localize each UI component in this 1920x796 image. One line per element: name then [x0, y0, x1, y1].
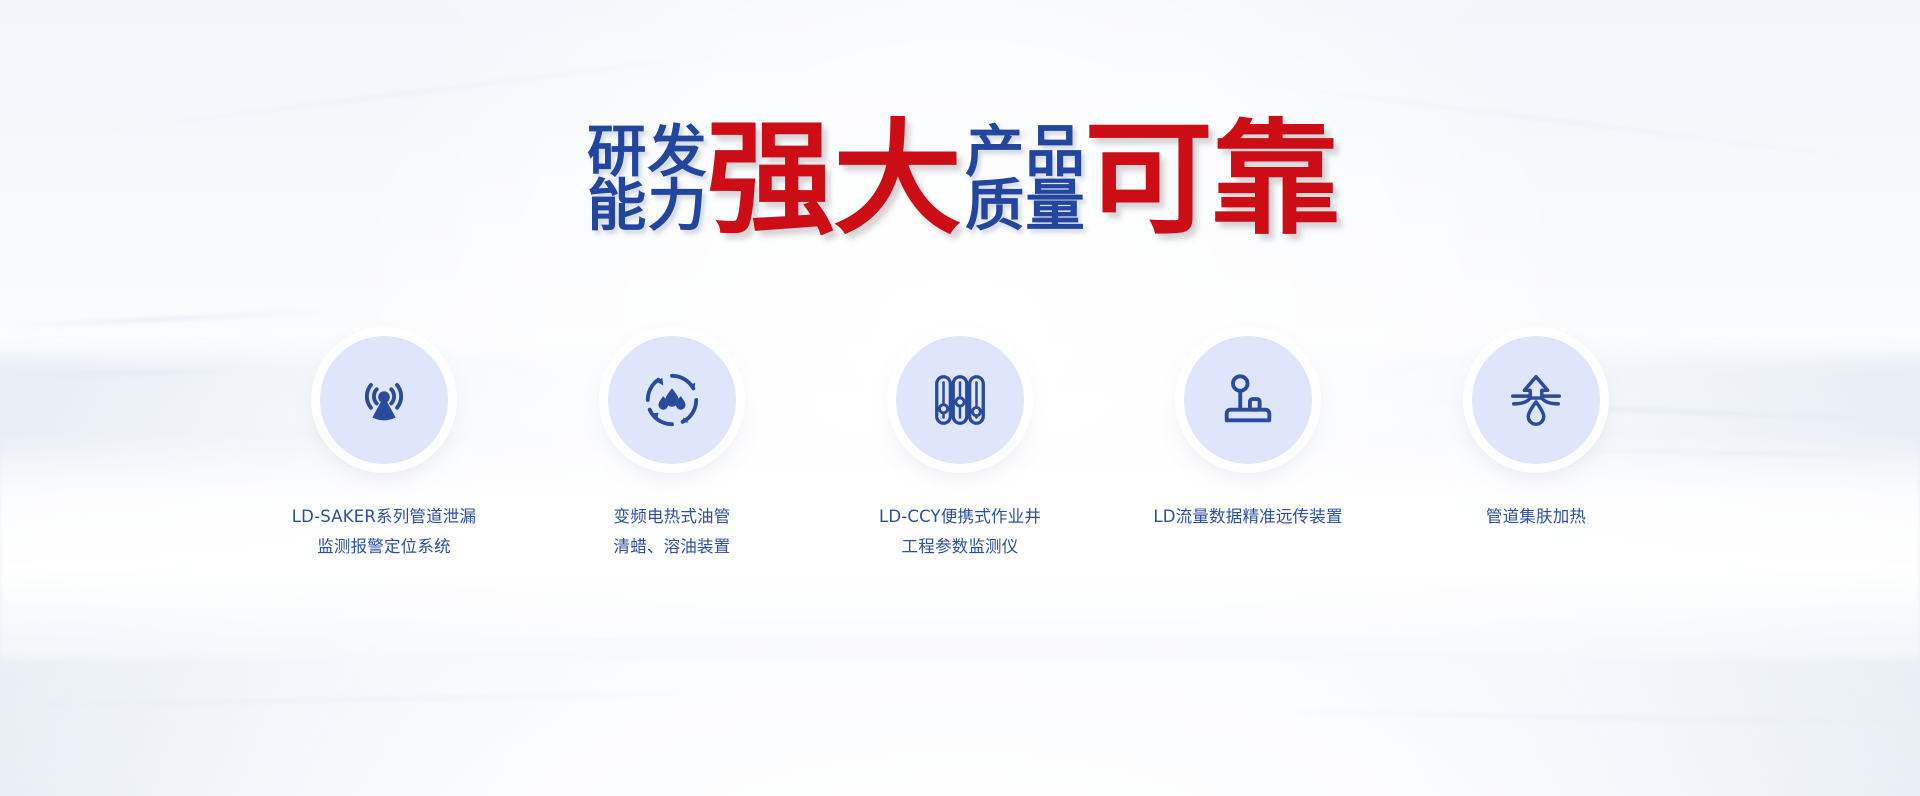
feature-icon-circle — [608, 336, 736, 464]
feature-item[interactable]: LD流量数据精准远传装置 — [1123, 336, 1373, 562]
feature-item[interactable]: 管道集肤加热 — [1411, 336, 1661, 562]
background-streak — [1220, 710, 1920, 724]
feature-item[interactable]: LD-SAKER系列管道泄漏 监测报警定位系统 — [259, 336, 509, 562]
feature-label: LD-SAKER系列管道泄漏 监测报警定位系统 — [292, 502, 476, 562]
feature-list: LD-SAKER系列管道泄漏 监测报警定位系统 — [0, 336, 1920, 562]
sliders-icon — [929, 369, 991, 431]
feature-icon-circle — [320, 336, 448, 464]
headline-emphasis-reliable: 可靠 — [1084, 118, 1338, 242]
headline-group-quality: 产品 质量 — [965, 126, 1079, 234]
feature-icon-circle — [896, 336, 1024, 464]
signal-wave-icon — [353, 369, 415, 431]
background-streak — [0, 691, 760, 706]
headline: 研发 能力 强大 产品 质量 可靠 — [0, 118, 1920, 242]
headline-rd-line2: 能力 — [587, 180, 708, 234]
headline-group-rd: 研发 能力 — [587, 126, 701, 234]
feature-label: 管道集肤加热 — [1486, 502, 1586, 532]
headline-quality-line1: 产品 — [965, 126, 1086, 180]
headline-emphasis-strong: 强大 — [706, 118, 960, 242]
background-streak — [0, 311, 330, 328]
promo-banner: 研发 能力 强大 产品 质量 可靠 — [0, 0, 1920, 796]
oil-recycle-drop-icon — [641, 369, 703, 431]
joystick-control-icon — [1217, 369, 1279, 431]
feature-item[interactable]: 变频电热式油管 清蜡、溶油装置 — [547, 336, 797, 562]
headline-rd-line1: 研发 — [587, 126, 708, 180]
feature-icon-circle — [1472, 336, 1600, 464]
feature-label: 变频电热式油管 清蜡、溶油装置 — [614, 502, 731, 562]
feature-item[interactable]: LD-CCY便携式作业井 工程参数监测仪 — [835, 336, 1085, 562]
feature-label: LD流量数据精准远传装置 — [1153, 502, 1342, 532]
headline-quality-line2: 质量 — [965, 180, 1086, 234]
skin-heating-arrow-drop-icon — [1505, 369, 1567, 431]
feature-icon-circle — [1184, 336, 1312, 464]
feature-label: LD-CCY便携式作业井 工程参数监测仪 — [879, 502, 1041, 562]
